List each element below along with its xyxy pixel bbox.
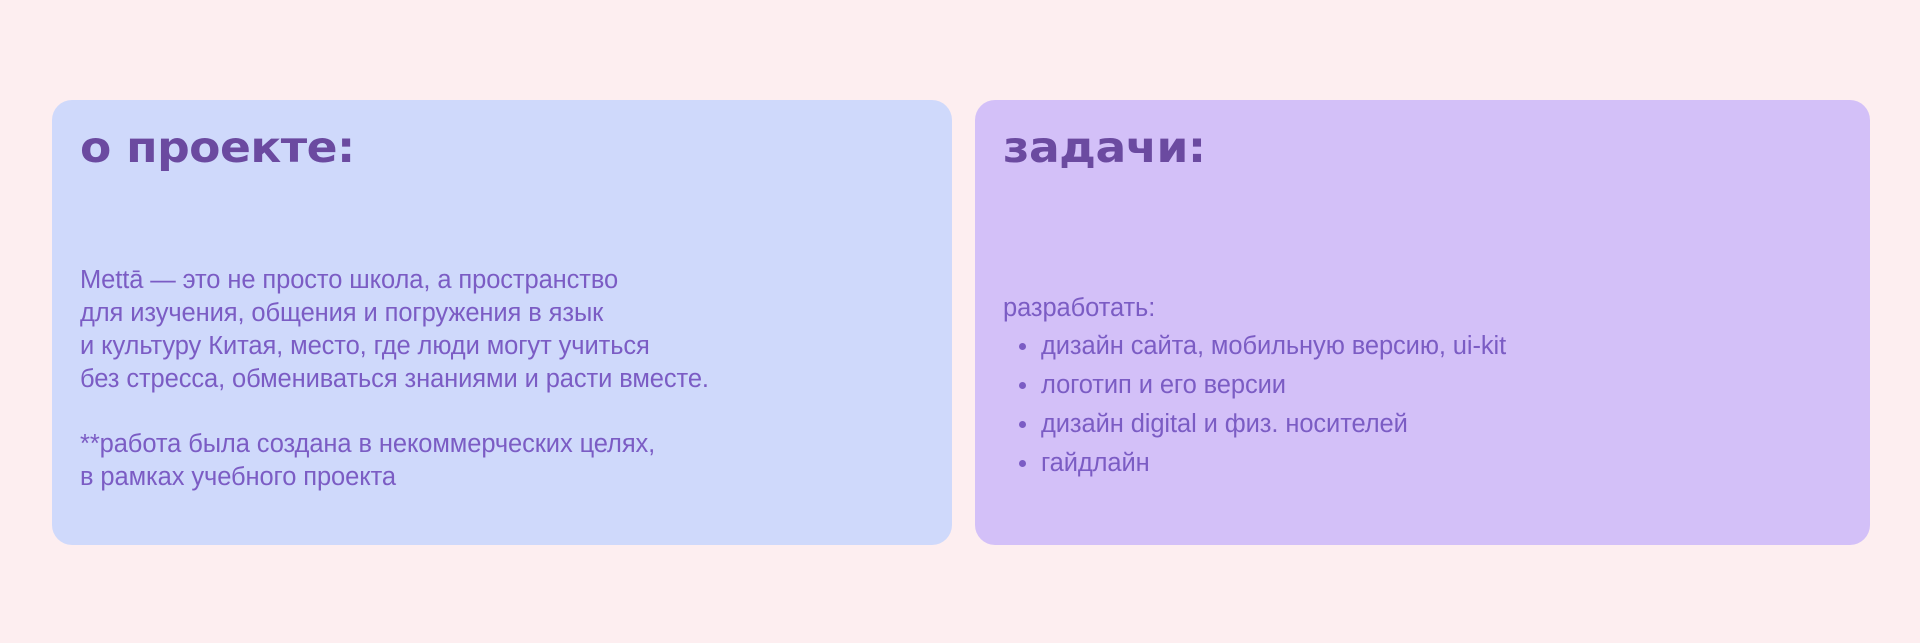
tasks-list: дизайн сайта, мобильную версию, ui-kit л… — [1003, 330, 1840, 480]
about-project-paragraph-intro: Mettā — это не просто школа, а пространс… — [80, 264, 922, 396]
list-item-label: гайдлайн — [1041, 449, 1150, 477]
list-item: дизайн сайта, мобильную версию, ui-kit — [1041, 330, 1840, 363]
list-item: дизайн digital и физ. носителей — [1041, 408, 1840, 441]
list-item-label: дизайн сайта, мобильную версию, ui-kit — [1041, 332, 1506, 360]
tasks-card: задачи: разработать: дизайн сайта, мобил… — [975, 100, 1870, 545]
tasks-lead-label: разработать: — [1003, 292, 1840, 325]
list-item-label: логотип и его версии — [1041, 371, 1286, 399]
bullet-dot-icon — [1019, 343, 1026, 350]
list-item: логотип и его версии — [1041, 369, 1840, 402]
slide-canvas: о проекте: Mettā — это не просто школа, … — [0, 0, 1920, 643]
tasks-body: разработать: дизайн сайта, мобильную вер… — [1003, 292, 1840, 480]
about-project-paragraph-disclaimer: **работа была создана в некоммерческих ц… — [80, 428, 922, 494]
bullet-dot-icon — [1019, 382, 1026, 389]
bullet-dot-icon — [1019, 421, 1026, 428]
about-project-card: о проекте: Mettā — это не просто школа, … — [52, 100, 952, 545]
list-item-label: дизайн digital и физ. носителей — [1041, 410, 1408, 438]
about-project-body: Mettā — это не просто школа, а пространс… — [80, 264, 922, 494]
bullet-dot-icon — [1019, 460, 1026, 467]
list-item: гайдлайн — [1041, 447, 1840, 480]
tasks-heading: задачи: — [1003, 126, 1890, 171]
about-project-heading: о проекте: — [80, 126, 973, 171]
